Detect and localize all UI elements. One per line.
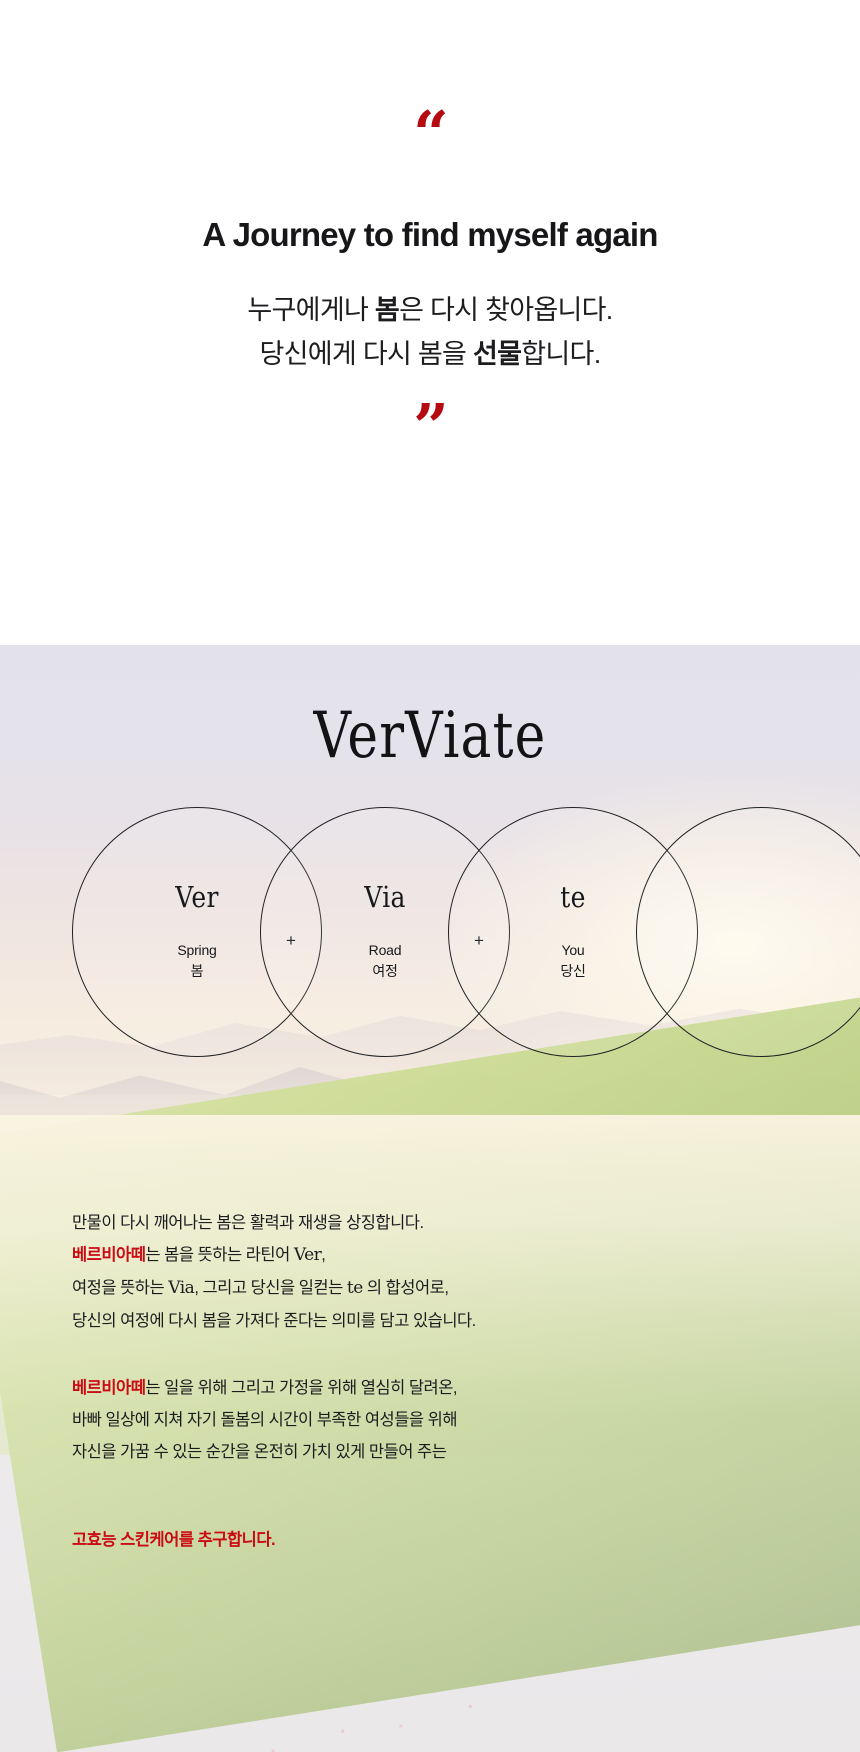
venn-operator-1: + <box>276 932 306 949</box>
venn-item-word: Ver <box>122 883 272 912</box>
brand-description: 만물이 다시 깨어나는 봄은 활력과 재생을 상징합니다. 베르비아떼는 봄을 … <box>0 1207 860 1556</box>
quote-sub-1c: 은 다시 찾아옵니다. <box>399 295 613 325</box>
venn-diagram: Ver Spring 봄 + Via Road 여정 + te You 당신 <box>0 807 860 1107</box>
latin-word-ver: Ver <box>294 1245 321 1265</box>
latin-word-via: Via <box>168 1278 194 1298</box>
desc-p1-line3a: 여정을 뜻하는 <box>72 1279 168 1297</box>
venn-item-english: Road <box>310 940 460 961</box>
venn-item-korean: 당신 <box>498 961 648 982</box>
venn-item-korean: 봄 <box>122 961 272 982</box>
venn-item-ver: Ver Spring 봄 <box>122 885 272 982</box>
quote-subtext: 누구에게나 봄은 다시 찾아옵니다. 당신에게 다시 봄을 선물합니다. <box>247 289 612 376</box>
desc-p2-line3: 자신을 가꿈 수 있는 순간을 온전히 가치 있게 만들어 주는 <box>72 1443 446 1461</box>
desc-p1-line2a: 는 봄을 뜻하는 라틴어 <box>145 1246 293 1264</box>
desc-p1-line3b: , 그리고 당신을 일컫는 <box>194 1279 347 1297</box>
tagline-highlight: 고효능 스킨케어를 추구합니다. <box>72 1531 275 1549</box>
venn-item-word: Via <box>310 883 460 912</box>
venn-operator-2: + <box>464 932 494 949</box>
brand-name-highlight: 베르비아떼 <box>72 1379 145 1397</box>
brand-logo: VerViate <box>17 645 843 768</box>
desc-p1-line1: 만물이 다시 깨어나는 봄은 활력과 재생을 상징합니다. <box>72 1214 424 1232</box>
venn-item-english: You <box>498 940 648 961</box>
desc-p1-line2b: , <box>321 1246 325 1264</box>
paragraph-spacer <box>72 1338 860 1372</box>
quote-subtext-line-2: 당신에게 다시 봄을 선물합니다. <box>247 333 612 377</box>
desc-p2-line2: 바빠 일상에 지쳐 자기 돌봄의 시간이 부족한 여성들을 위해 <box>72 1411 457 1429</box>
desc-p2-line1: 는 일을 위해 그리고 가정을 위해 열심히 달려온, <box>145 1379 457 1397</box>
quote-subtext-line-1: 누구에게나 봄은 다시 찾아옵니다. <box>247 289 612 333</box>
desc-p1-line3c: 의 합성어로, <box>363 1279 449 1297</box>
venn-item-english: Spring <box>122 940 272 961</box>
quote-sub-2b: 선물 <box>473 339 521 369</box>
description-paragraph-1: 만물이 다시 깨어나는 봄은 활력과 재생을 상징합니다. 베르비아떼는 봄을 … <box>72 1207 860 1338</box>
venn-item-word: te <box>498 883 648 912</box>
open-quote-icon: “ <box>413 118 447 162</box>
venn-item-via: Via Road 여정 <box>310 885 460 982</box>
close-quote-icon: ” <box>413 411 447 455</box>
venn-item-korean: 여정 <box>310 961 460 982</box>
latin-word-te: te <box>347 1278 363 1298</box>
description-paragraph-2: 베르비아떼는 일을 위해 그리고 가정을 위해 열심히 달려온, 바빠 일상에 … <box>72 1372 860 1469</box>
hero-section: VerViate Ver Spring 봄 + Via Road 여정 + te… <box>0 645 860 1752</box>
description-final-line: 고효능 스킨케어를 추구합니다. <box>72 1524 860 1556</box>
desc-p1-line4: 당신의 여정에 다시 봄을 가져다 준다는 의미를 담고 있습니다. <box>72 1312 476 1330</box>
venn-circle-4 <box>636 807 860 1057</box>
quote-sub-1b: 봄 <box>375 295 399 325</box>
brand-name-highlight: 베르비아떼 <box>72 1246 145 1264</box>
venn-item-te: te You 당신 <box>498 885 648 982</box>
quote-sub-2a: 당신에게 다시 봄을 <box>259 339 473 369</box>
hero-content: VerViate Ver Spring 봄 + Via Road 여정 + te… <box>0 645 860 1556</box>
quote-sub-1a: 누구에게나 <box>247 295 375 325</box>
quote-section: “ A Journey to find myself again 누구에게나 봄… <box>0 0 860 645</box>
quote-headline: A Journey to find myself again <box>202 214 657 255</box>
quote-sub-2c: 합니다. <box>521 339 600 369</box>
